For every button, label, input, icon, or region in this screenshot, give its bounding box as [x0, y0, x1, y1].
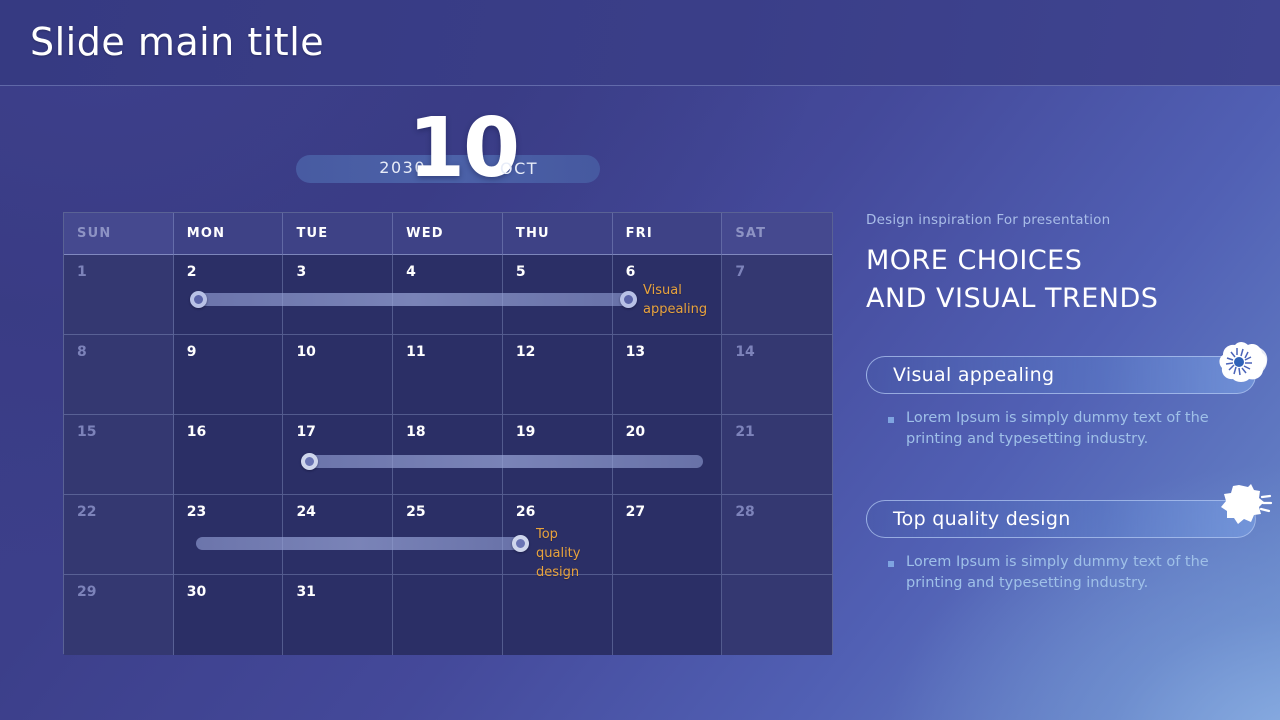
day-number: 20 — [626, 424, 645, 440]
calendar-day-cell[interactable]: 7 — [722, 255, 832, 335]
calendar-day-cell[interactable]: 9 — [174, 335, 284, 415]
feature-block-1: Visual appealing — [866, 356, 1256, 450]
event-range-handle-start-1[interactable] — [190, 291, 207, 308]
day-number: 2 — [187, 264, 197, 280]
calendar-header-cell-tue: TUE — [283, 213, 393, 255]
day-number: 26 — [516, 504, 535, 520]
calendar-header-cell-wed: WED — [393, 213, 503, 255]
panel-heading: MORE CHOICES AND VISUAL TRENDS — [866, 242, 1256, 318]
feature-pill-label-1: Visual appealing — [893, 364, 1054, 386]
calendar-week-row: 8 9 10 11 12 13 14 — [64, 335, 832, 415]
day-number: 3 — [296, 264, 306, 280]
weekday-label: SUN — [77, 226, 111, 241]
event-range-handle-start-2[interactable] — [301, 453, 318, 470]
day-number: 24 — [296, 504, 315, 520]
day-number: 14 — [735, 344, 754, 360]
event-range-handle-end-3[interactable] — [512, 535, 529, 552]
bullet-square-icon — [888, 561, 894, 567]
calendar-header-cell-mon: MON — [174, 213, 284, 255]
calendar-day-cell[interactable] — [613, 575, 723, 655]
day-number: 17 — [296, 424, 315, 440]
calendar-day-cell[interactable]: 11 — [393, 335, 503, 415]
calendar-header-cell-sat: SAT — [722, 213, 832, 255]
day-number: 9 — [187, 344, 197, 360]
feature-pill-1[interactable]: Visual appealing — [866, 356, 1256, 394]
calendar-day-cell[interactable]: 16 — [174, 415, 284, 495]
day-number: 4 — [406, 264, 416, 280]
calendar-day-cell[interactable]: 12 — [503, 335, 613, 415]
day-number: 22 — [77, 504, 96, 520]
event-range-bar-1[interactable] — [198, 293, 630, 306]
calendar-day-cell[interactable]: 30 — [174, 575, 284, 655]
day-number: 6 — [626, 264, 636, 280]
weekday-label: TUE — [296, 226, 328, 241]
day-number: 27 — [626, 504, 645, 520]
day-number: 1 — [77, 264, 87, 280]
day-number: 28 — [735, 504, 754, 520]
weekday-label: FRI — [626, 226, 653, 241]
feature-block-2: Top quality design Lorem Ipsum is simply… — [866, 500, 1256, 594]
day-number: 30 — [187, 584, 206, 600]
feature-bullet-1: Lorem Ipsum is simply dummy text of the … — [866, 408, 1256, 450]
page-title: Slide main title — [30, 20, 324, 64]
day-number: 12 — [516, 344, 535, 360]
calendar-day-cell[interactable]: 24 — [283, 495, 393, 575]
slide-header: Slide main title — [0, 0, 1280, 86]
calendar-day-cell[interactable]: 13 — [613, 335, 723, 415]
calendar-header-cell-thu: THU — [503, 213, 613, 255]
calendar-day-cell[interactable] — [722, 575, 832, 655]
feature-bullet-2: Lorem Ipsum is simply dummy text of the … — [866, 552, 1256, 594]
calendar-day-cell[interactable]: 25 — [393, 495, 503, 575]
weekday-label: WED — [406, 226, 444, 241]
day-number: 29 — [77, 584, 96, 600]
calendar-day-cell[interactable]: 23 — [174, 495, 284, 575]
calendar-grid[interactable]: SUN MON TUE WED THU FRI SAT 1 2 3 4 5 6 … — [63, 212, 833, 654]
calendar-day-cell[interactable]: 29 — [64, 575, 174, 655]
feature-pill-label-2: Top quality design — [893, 508, 1071, 530]
bullet-square-icon — [888, 417, 894, 423]
content-panel: Design inspiration For presentation MORE… — [866, 212, 1256, 594]
calendar-day-cell[interactable]: 22 — [64, 495, 174, 575]
date-year: 2030 — [296, 158, 426, 177]
lightbulb-icon — [1215, 479, 1273, 533]
day-number: 21 — [735, 424, 754, 440]
date-day: 10 — [408, 108, 492, 190]
day-number: 7 — [735, 264, 745, 280]
date-month: OCT — [500, 159, 538, 178]
calendar-week-row: 29 30 31 — [64, 575, 832, 655]
event-range-handle-end-1[interactable] — [620, 291, 637, 308]
day-number: 5 — [516, 264, 526, 280]
calendar-day-cell[interactable]: 31 — [283, 575, 393, 655]
panel-heading-line-2: AND VISUAL TRENDS — [866, 280, 1256, 318]
calendar-day-cell[interactable]: 15 — [64, 415, 174, 495]
panel-heading-line-1: MORE CHOICES — [866, 242, 1256, 280]
day-number: 15 — [77, 424, 96, 440]
panel-eyebrow: Design inspiration For presentation — [866, 212, 1256, 228]
calendar-header-cell-sun: SUN — [64, 213, 174, 255]
day-number: 23 — [187, 504, 206, 520]
calendar-week-row: 22 23 24 25 26 27 28 — [64, 495, 832, 575]
weekday-label: SAT — [735, 226, 766, 241]
calendar-day-cell[interactable]: 28 — [722, 495, 832, 575]
weekday-label: MON — [187, 226, 225, 241]
calendar-day-cell[interactable]: 21 — [722, 415, 832, 495]
event-range-bar-3[interactable] — [196, 537, 522, 550]
calendar-header-row: SUN MON TUE WED THU FRI SAT — [64, 213, 832, 255]
day-number: 8 — [77, 344, 87, 360]
event-label-1: Visual appealing — [643, 281, 715, 319]
calendar-day-cell[interactable]: 8 — [64, 335, 174, 415]
calendar-day-cell[interactable]: 10 — [283, 335, 393, 415]
calendar-day-cell[interactable]: 14 — [722, 335, 832, 415]
day-number: 19 — [516, 424, 535, 440]
event-range-bar-2[interactable] — [309, 455, 703, 468]
calendar-day-cell[interactable]: 1 — [64, 255, 174, 335]
calendar-day-cell[interactable] — [503, 575, 613, 655]
brain-icon — [1215, 335, 1273, 389]
feature-body-2: Lorem Ipsum is simply dummy text of the … — [906, 552, 1226, 594]
calendar-day-cell[interactable]: 27 — [613, 495, 723, 575]
calendar-day-cell[interactable] — [393, 575, 503, 655]
day-number: 25 — [406, 504, 425, 520]
calendar-header-cell-fri: FRI — [613, 213, 723, 255]
weekday-label: THU — [516, 226, 550, 241]
feature-pill-2[interactable]: Top quality design — [866, 500, 1256, 538]
day-number: 10 — [296, 344, 315, 360]
day-number: 31 — [296, 584, 315, 600]
event-label-3: Top quality design — [536, 525, 596, 582]
day-number: 18 — [406, 424, 425, 440]
feature-body-1: Lorem Ipsum is simply dummy text of the … — [906, 408, 1226, 450]
slide-canvas: Slide main title 2030 10 OCT SUN MON TUE… — [0, 0, 1280, 720]
day-number: 16 — [187, 424, 206, 440]
day-number: 13 — [626, 344, 645, 360]
day-number: 11 — [406, 344, 425, 360]
